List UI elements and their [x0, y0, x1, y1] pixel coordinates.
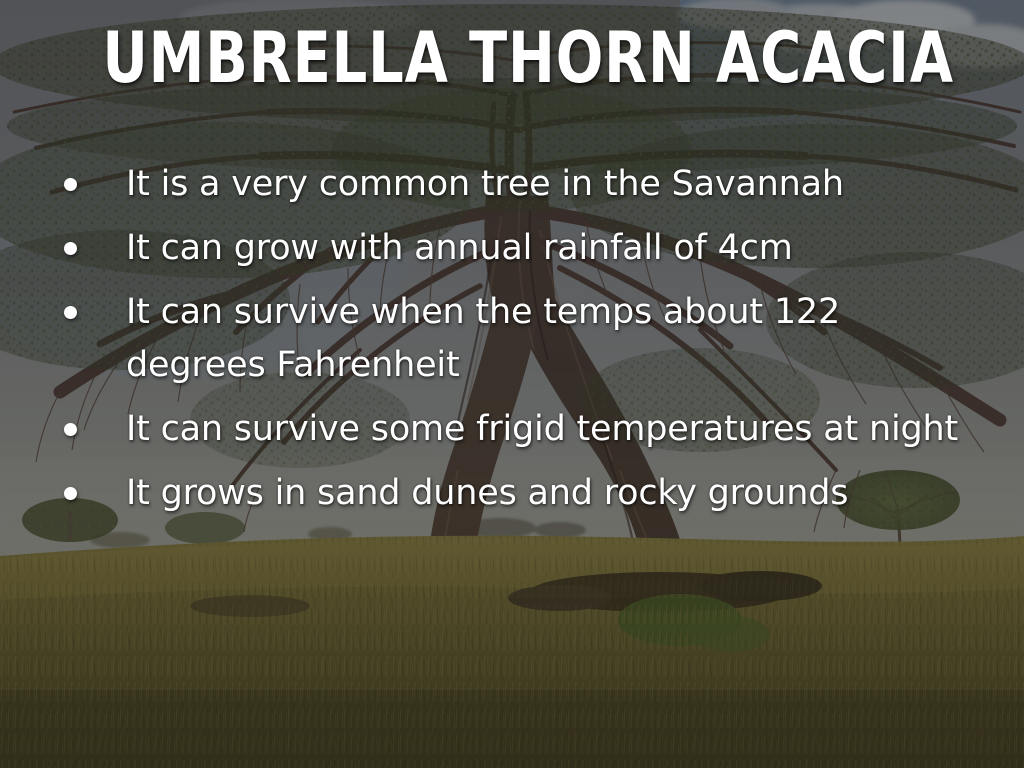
list-item: It can grow with annual rainfall of 4cm: [52, 222, 982, 275]
list-item-label: It is a very common tree in the Savannah: [126, 158, 982, 211]
list-item: It can survive some frigid temperatures …: [52, 403, 982, 456]
page-title: UMBRELLA THORN ACACIA: [102, 22, 921, 94]
bullet-dot-icon: [64, 178, 77, 191]
list-item-label: It can survive when the temps about 122 …: [126, 286, 982, 392]
bullet-dot-icon: [64, 487, 77, 500]
list-item-label: It can survive some frigid temperatures …: [126, 403, 982, 456]
bullet-dot-icon: [64, 242, 77, 255]
bullet-dot-icon: [64, 423, 77, 436]
slide-content: UMBRELLA THORN ACACIA It is a very commo…: [0, 0, 1024, 768]
bullet-dot-icon: [64, 306, 77, 319]
list-item: It can survive when the temps about 122 …: [52, 286, 982, 392]
list-item-label: It grows in sand dunes and rocky grounds: [126, 467, 982, 520]
list-item: It is a very common tree in the Savannah: [52, 158, 982, 211]
list-item-label: It can grow with annual rainfall of 4cm: [126, 222, 982, 275]
presentation-slide: UMBRELLA THORN ACACIA It is a very commo…: [0, 0, 1024, 768]
list-item: It grows in sand dunes and rocky grounds: [52, 467, 982, 520]
bullet-list: It is a very common tree in the Savannah…: [52, 158, 982, 531]
